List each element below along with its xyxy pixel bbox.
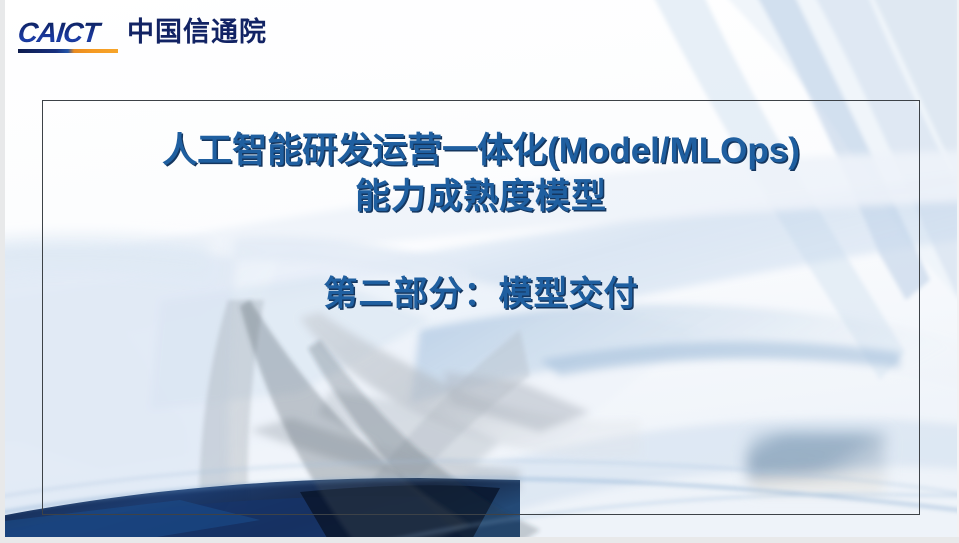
page-subtitle: 第二部分：模型交付 [42, 266, 920, 315]
title-line-2: 能力成熟度模型 [42, 174, 920, 220]
caict-wordmark-group: CAICT [18, 19, 118, 53]
caict-logo: CAICT 中国信通院 [18, 19, 267, 53]
caict-wordmark: CAICT [17, 19, 120, 47]
caict-chinese-name: 中国信通院 [127, 19, 267, 53]
title-line-1: 人工智能研发运营一体化(Model/MLOps) [42, 128, 920, 174]
presentation-slide: CAICT 中国信通院 人工智能研发运营一体化(Model/MLOps) 能力成… [0, 0, 959, 543]
caict-underline-bar [18, 49, 118, 53]
subtitle-text: 第二部分：模型交付 [42, 266, 920, 315]
page-title: 人工智能研发运营一体化(Model/MLOps) 能力成熟度模型 [42, 128, 920, 219]
